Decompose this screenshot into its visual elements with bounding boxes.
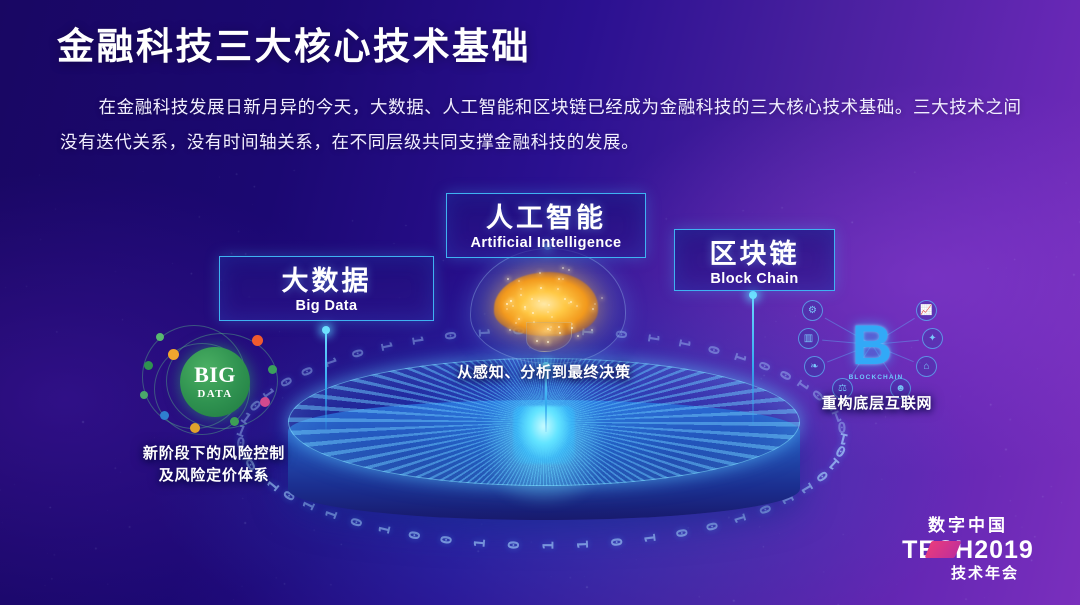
blockchain-icon-cluster: B BLOCKCHAIN ⚙ ▥ ❧ ⚖ 📈 ✦ ⌂ ☻ (798, 298, 946, 402)
neuron-spark (551, 316, 553, 318)
big-data-badge-bottom: DATA (197, 388, 232, 400)
chart-icon: 📈 (916, 300, 937, 321)
building-icon: ⌂ (916, 356, 937, 377)
logo-line-3: 技术年会 (892, 562, 1044, 583)
bitcoin-b-icon: B (846, 312, 898, 378)
connector-stalk-bigdata (325, 330, 327, 430)
neuron-spark (506, 303, 508, 305)
cluster-node (160, 411, 169, 420)
cluster-node (260, 397, 270, 407)
event-logo: 数字中国 TECH2019 技术年会 (892, 511, 1044, 584)
neuron-spark (594, 303, 596, 305)
cluster-node (268, 365, 277, 374)
logo-tech-text: TECH2019 (902, 536, 1034, 564)
neuron-spark (515, 322, 517, 324)
card-big-data-subtitle: Big Data (220, 298, 433, 314)
neuron-spark (571, 323, 573, 325)
caption-big-data-line1: 新阶段下的风险控制 (108, 443, 320, 465)
card-big-data[interactable]: 大数据 Big Data (219, 256, 434, 321)
big-data-badge-top: BIG (194, 364, 236, 386)
neuron-spark (558, 278, 560, 280)
binary-digit: 0 (441, 330, 460, 341)
cluster-node (190, 423, 200, 433)
big-data-icon-cluster: BIG DATA (138, 325, 288, 443)
logo-line-1: 数字中国 (892, 511, 1044, 536)
slide-canvas: 金融科技三大核心技术基础 在金融科技发展日新月异的今天，大数据、人工智能和区块链… (0, 0, 1080, 605)
neuron-spark (509, 329, 511, 331)
card-ai-title: 人工智能 (447, 203, 645, 233)
caption-big-data-line2: 及风险定价体系 (108, 465, 320, 487)
neuron-spark (557, 288, 559, 290)
connector-stalk-blockchain (752, 295, 754, 425)
caption-ai: 从感知、分析到最终决策 (435, 362, 653, 384)
card-blockchain-subtitle: Block Chain (675, 271, 834, 287)
neuron-spark (518, 318, 520, 320)
neuron-spark (550, 326, 552, 328)
cluster-node (144, 361, 153, 370)
page-title: 金融科技三大核心技术基础 (57, 16, 531, 70)
card-ai-subtitle: Artificial Intelligence (447, 235, 645, 251)
bank-icon: ▥ (798, 328, 819, 349)
binary-digit: 1 (644, 332, 663, 344)
cluster-node (168, 349, 179, 360)
leaf-icon: ❧ (804, 356, 825, 377)
big-data-badge: BIG DATA (180, 347, 250, 417)
card-blockchain-title: 区块链 (675, 239, 834, 269)
neuron-spark (512, 305, 514, 307)
disc-core-beam (513, 406, 575, 464)
neuron-spark (601, 297, 603, 299)
card-big-data-title: 大数据 (220, 266, 433, 296)
neuron-spark (547, 328, 549, 330)
neuron-spark (562, 278, 564, 280)
gear-icon: ⚙ (802, 300, 823, 321)
neuron-spark (520, 288, 522, 290)
cluster-node (156, 333, 164, 341)
logo-line-2: TECH2019 (902, 537, 1034, 565)
cluster-node (230, 417, 239, 426)
neuron-spark (576, 305, 578, 307)
card-block-chain[interactable]: 区块链 Block Chain (674, 229, 835, 291)
handshake-icon: ✦ (922, 328, 943, 349)
neuron-spark (591, 329, 593, 331)
neuron-spark (531, 298, 533, 300)
body-paragraph: 在金融科技发展日新月异的今天，大数据、人工智能和区块链已经成为金融科技的三大核心… (60, 90, 1028, 160)
cluster-node (140, 391, 148, 399)
neuron-spark (577, 335, 579, 337)
caption-blockchain: 重构底层互联网 (798, 393, 956, 415)
caption-big-data: 新阶段下的风险控制 及风险定价体系 (108, 443, 320, 487)
ai-brain-graphic (470, 248, 626, 364)
card-artificial-intelligence[interactable]: 人工智能 Artificial Intelligence (446, 193, 646, 258)
cluster-node (252, 335, 263, 346)
neuron-spark (558, 326, 560, 328)
binary-digit: 1 (408, 334, 427, 346)
